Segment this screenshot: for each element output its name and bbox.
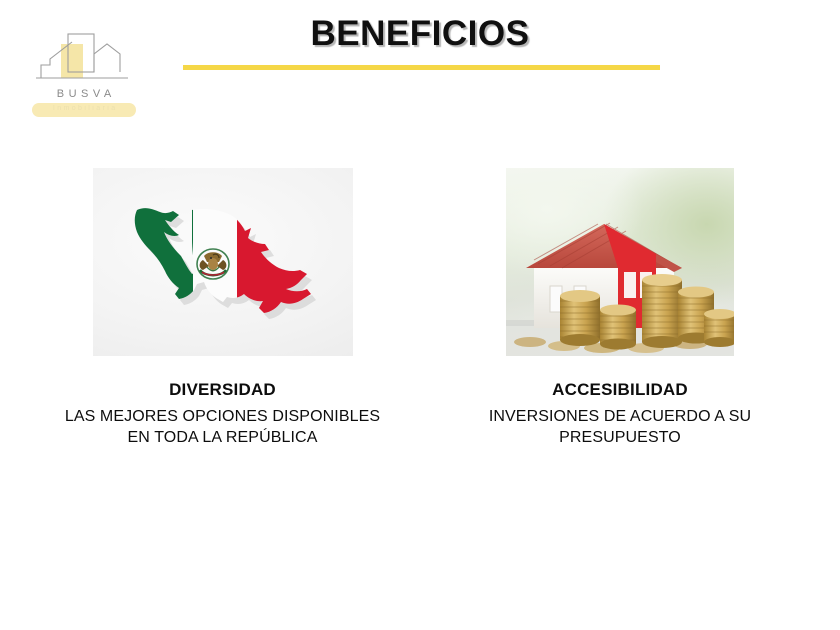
benefit-panel-diversidad: DIVERSIDAD LAS MEJORES OPCIONES DISPONIB… <box>30 168 415 449</box>
benefit-panel-accesibilidad: ACCESIBILIDAD INVERSIONES DE ACUERDO A S… <box>440 168 800 449</box>
house-and-coins-image <box>506 168 734 356</box>
benefit-body-diversidad: LAS MEJORES OPCIONES DISPONIBLES EN TODA… <box>30 407 415 449</box>
coin-stack-3 <box>642 274 682 348</box>
logo-tagline: Inmobiliaria <box>32 105 136 112</box>
coin-stack-2 <box>600 305 636 350</box>
benefit-body-line-1: LAS MEJORES OPCIONES DISPONIBLES <box>65 408 380 425</box>
page-title: BENEFICIOS <box>0 14 840 54</box>
coin-stack-1 <box>560 290 600 346</box>
benefit-title-diversidad: DIVERSIDAD <box>30 380 415 400</box>
mexico-map-svg <box>93 168 353 356</box>
mexico-map-flag-image <box>93 168 353 356</box>
coat-of-arms-emblem <box>197 249 229 279</box>
logo-wordmark: BUSVA <box>28 88 140 100</box>
benefit-body-line-2: PRESUPUESTO <box>559 429 681 446</box>
coin-stack-5 <box>704 309 734 347</box>
benefit-body-line-2: EN TODA LA REPÚBLICA <box>128 429 318 446</box>
house-and-coins-svg <box>506 168 734 356</box>
benefit-body-accesibilidad: INVERSIONES DE ACUERDO A SU PRESUPUESTO <box>440 407 800 449</box>
title-underline-rule <box>183 65 660 70</box>
benefit-body-line-1: INVERSIONES DE ACUERDO A SU <box>489 408 751 425</box>
benefit-title-accesibilidad: ACCESIBILIDAD <box>440 380 800 400</box>
